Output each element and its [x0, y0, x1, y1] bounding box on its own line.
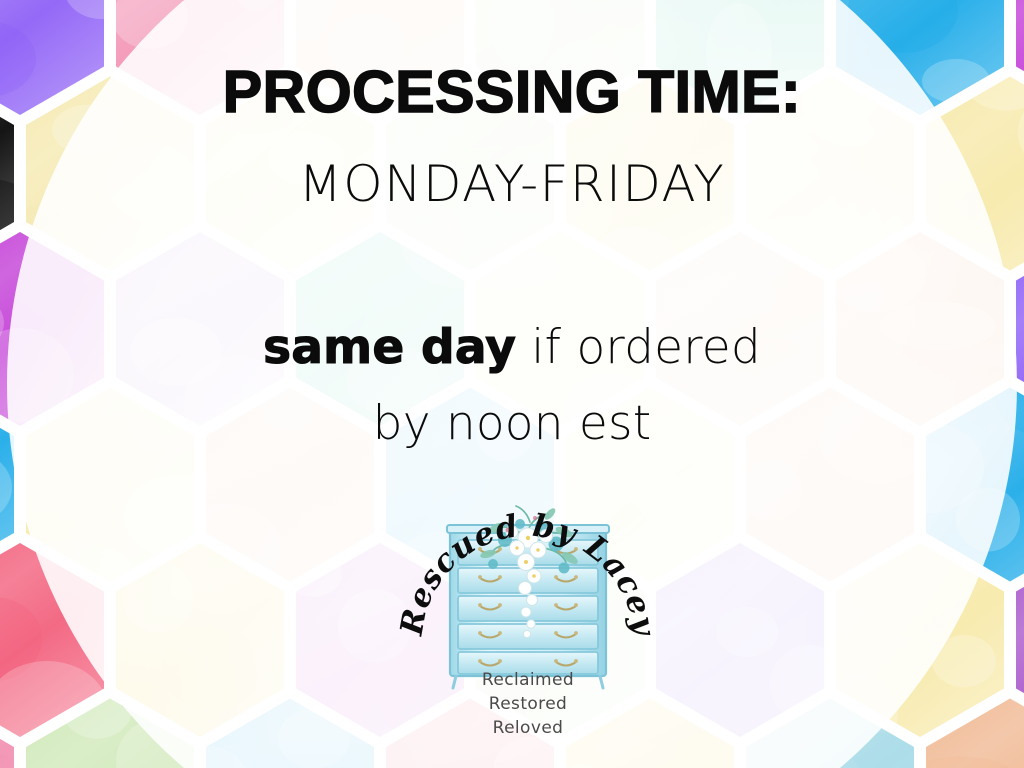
tagline-line-3: Reloved	[404, 718, 652, 738]
same-day-emphasis: same day	[263, 320, 516, 375]
processing-note-line2: by noon est	[0, 398, 1024, 451]
tagline-line-2: Restored	[404, 694, 652, 714]
if-ordered-text: if ordered	[516, 320, 761, 375]
tagline-line-1: Reclaimed	[404, 670, 652, 690]
processing-note-line1: same day if ordered	[0, 322, 1024, 375]
promo-banner: PROCESSING TIME: MONDAY-FRIDAY same day …	[0, 0, 1024, 768]
brand-logo: Rescued by Lacey Reclaimed Restored Relo…	[404, 484, 652, 742]
days-subtitle: MONDAY-FRIDAY	[0, 158, 1024, 211]
page-title: PROCESSING TIME:	[0, 62, 1024, 122]
